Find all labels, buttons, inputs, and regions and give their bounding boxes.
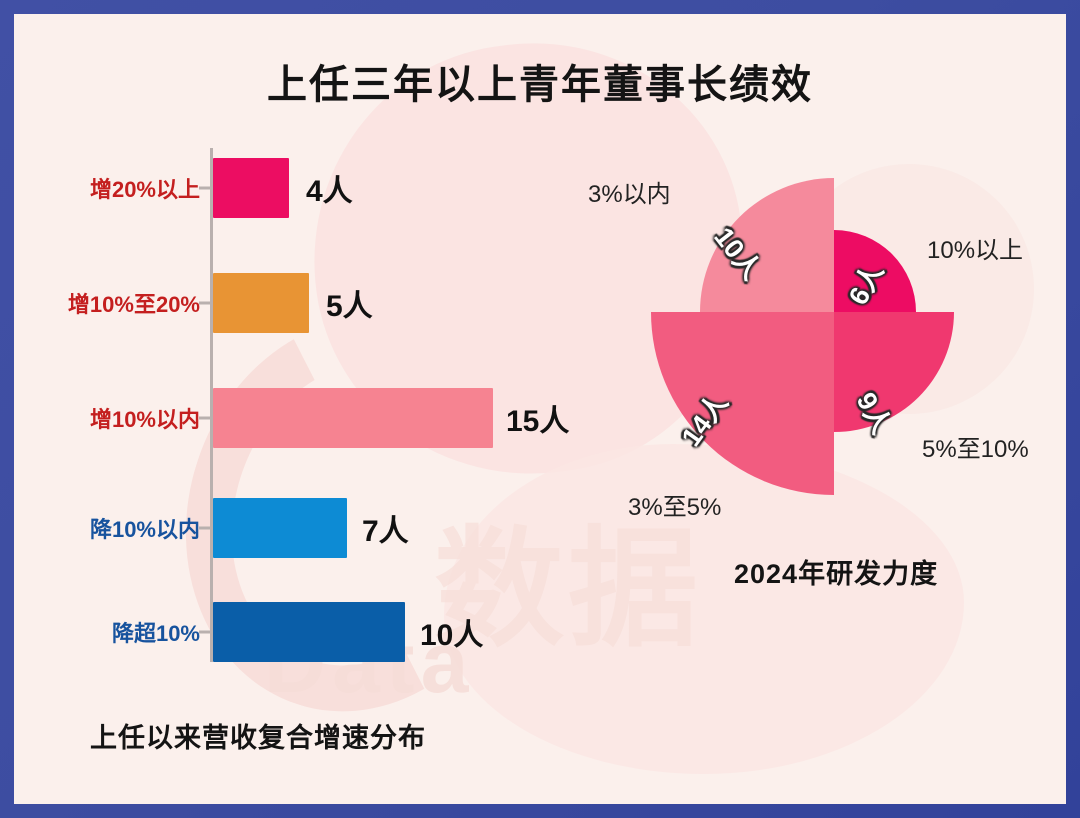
bar-label: 降10%以内 <box>90 512 200 544</box>
bar-label: 增10%至20% <box>68 287 200 319</box>
poster-canvas: 数据 Data 上任三年以上青年董事长绩效 增20%以上 4人 增10%至20%… <box>14 14 1066 804</box>
bar-rect <box>213 388 493 448</box>
pie-category-label: 3%至5% <box>628 487 721 522</box>
pie-chart: 10人 6人 9人 14人 3%以内 10%以上 5%至10% 3%至5% 20… <box>574 132 1066 692</box>
bar-tick-icon <box>199 187 211 190</box>
page-title: 上任三年以上青年董事长绩效 <box>14 52 1066 110</box>
bar-tick-icon <box>199 417 211 420</box>
pie-chart-caption: 2024年研发力度 <box>734 552 938 591</box>
bar-tick-icon <box>199 631 211 634</box>
bar-rect <box>213 498 347 558</box>
bar-rect <box>213 273 309 333</box>
pie-category-label: 10%以上 <box>927 230 1023 265</box>
pie-slice-3-to-5-percent <box>651 312 834 495</box>
bar-rect <box>213 158 289 218</box>
bar-value: 4人 <box>306 166 353 210</box>
bar-chart: 增20%以上 4人 增10%至20% 5人 增10%以内 15人 降10%以内 <box>14 132 574 692</box>
bar-value: 7人 <box>362 506 409 550</box>
pie-category-label: 3%以内 <box>588 174 671 209</box>
bar-chart-caption: 上任以来营收复合增速分布 <box>90 716 426 755</box>
bar-value: 15人 <box>506 396 569 440</box>
bar-label: 增20%以上 <box>90 172 200 204</box>
bar-row: 降超10% 10人 <box>14 602 574 662</box>
bar-row: 降10%以内 7人 <box>14 498 574 558</box>
bar-value: 5人 <box>326 281 373 325</box>
bar-tick-icon <box>199 302 211 305</box>
bar-rect <box>213 602 405 662</box>
bar-label: 降超10% <box>112 616 200 648</box>
bar-row: 增10%以内 15人 <box>14 388 574 448</box>
bar-label: 增10%以内 <box>90 402 200 434</box>
bar-value: 10人 <box>420 610 483 654</box>
bar-row: 增20%以上 4人 <box>14 158 574 218</box>
pie-category-label: 5%至10% <box>922 429 1029 464</box>
bar-row: 增10%至20% 5人 <box>14 273 574 333</box>
poster-frame: 数据 Data 上任三年以上青年董事长绩效 增20%以上 4人 增10%至20%… <box>0 0 1080 818</box>
bar-tick-icon <box>199 527 211 530</box>
